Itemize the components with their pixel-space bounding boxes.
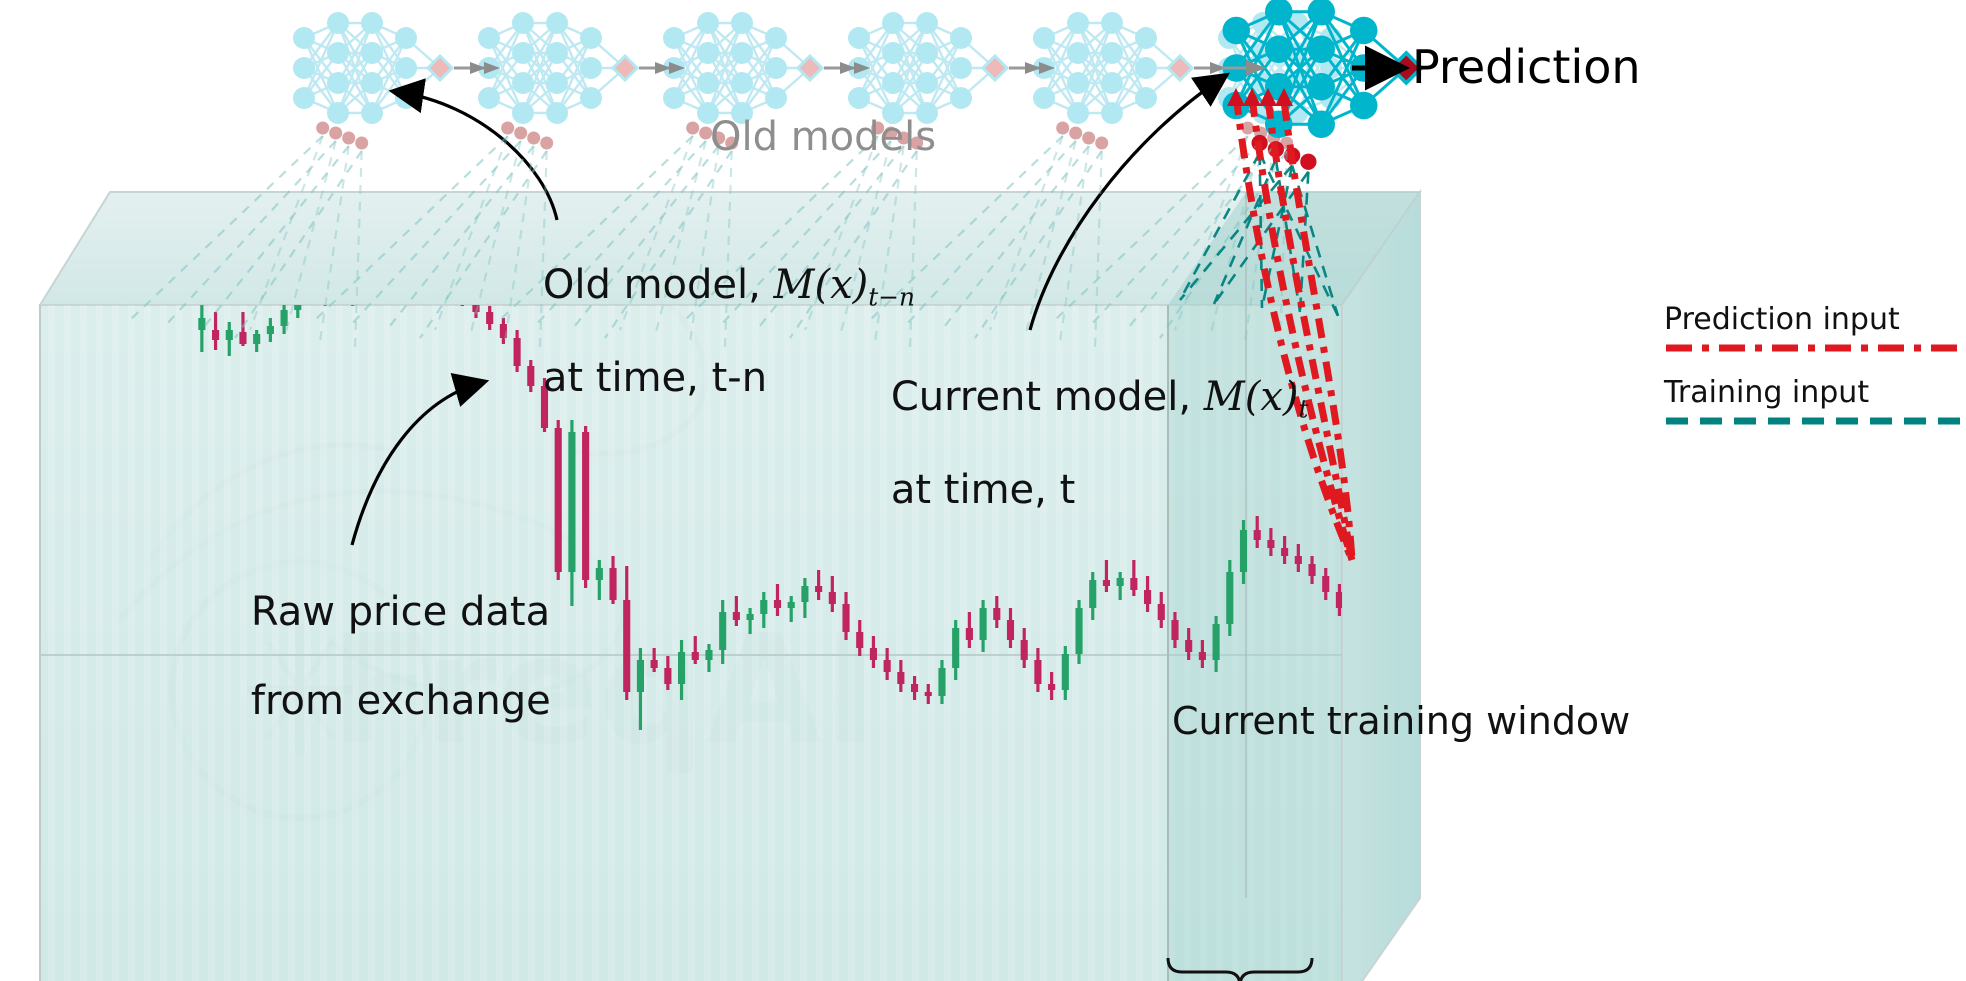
current-model-line2: at time, t <box>891 467 1075 513</box>
old-model-math: M(x) <box>774 262 869 308</box>
old-model-line2: at time, t-n <box>543 355 767 401</box>
old-models-label: Old models <box>710 115 936 160</box>
prediction-label: Prediction <box>1412 42 1641 94</box>
raw-price-line2: from exchange <box>251 678 551 724</box>
current-model-line1-prefix: Current model, <box>891 374 1204 420</box>
current-model-annotation: Current model, M(x)t at time, t <box>840 330 1309 557</box>
legend-label-training-input: Training input <box>1664 375 1964 410</box>
legend: Prediction input Training input <box>1664 302 1964 436</box>
raw-price-line1: Raw price data <box>251 589 550 635</box>
legend-swatch-prediction-input <box>1664 337 1964 359</box>
current-training-window-label: Current training window <box>1172 700 1630 743</box>
legend-item-training-input: Training input <box>1664 375 1964 436</box>
legend-item-prediction-input: Prediction input <box>1664 302 1964 363</box>
legend-swatch-training-input <box>1664 410 1964 432</box>
raw-price-annotation: Raw price data from exchange <box>200 545 551 769</box>
old-model-math-sub: t−n <box>868 282 915 311</box>
current-model-math: M(x) <box>1204 374 1299 420</box>
current-model-math-sub: t <box>1299 394 1309 423</box>
diagram-canvas: FreqAI <box>0 0 1966 981</box>
old-model-line1-prefix: Old model, <box>543 262 774 308</box>
legend-label-prediction-input: Prediction input <box>1664 302 1964 337</box>
